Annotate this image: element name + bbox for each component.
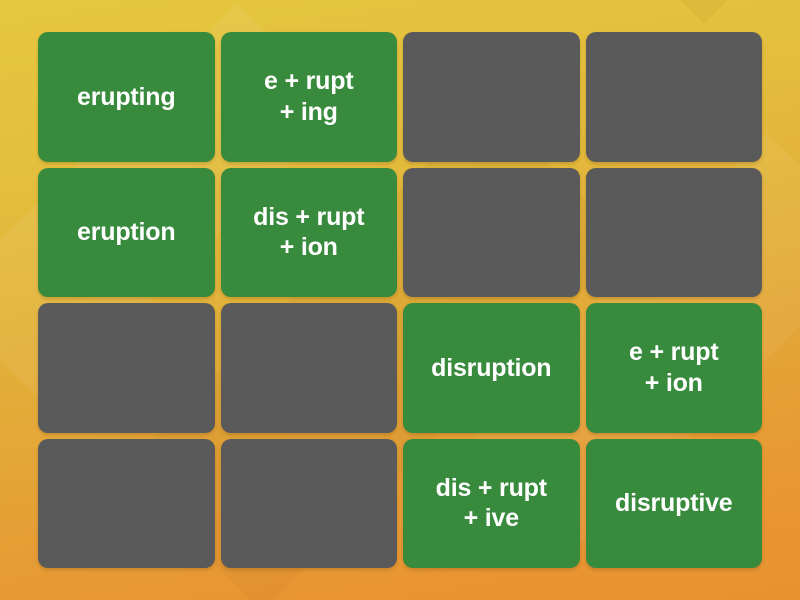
card-r3c1[interactable] xyxy=(38,303,215,433)
card-r1c4[interactable] xyxy=(586,32,763,162)
background-streak xyxy=(640,0,800,24)
card-r4c3[interactable]: dis + rupt + ive xyxy=(403,439,580,569)
card-label: dis + rupt + ive xyxy=(436,473,547,534)
card-r3c2[interactable] xyxy=(221,303,398,433)
card-label: erupting xyxy=(77,82,175,113)
card-r4c1[interactable] xyxy=(38,439,215,569)
card-r2c4[interactable] xyxy=(586,168,763,298)
card-r4c2[interactable] xyxy=(221,439,398,569)
card-label: disruptive xyxy=(615,488,732,519)
card-r3c3[interactable]: disruption xyxy=(403,303,580,433)
card-r2c2[interactable]: dis + rupt + ion xyxy=(221,168,398,298)
card-label: disruption xyxy=(431,353,551,384)
card-r1c2[interactable]: e + rupt + ing xyxy=(221,32,398,162)
card-label: eruption xyxy=(77,217,175,248)
card-r3c4[interactable]: e + rupt + ion xyxy=(586,303,763,433)
card-r1c3[interactable] xyxy=(403,32,580,162)
card-label: dis + rupt + ion xyxy=(253,202,364,263)
card-r4c4[interactable]: disruptive xyxy=(586,439,763,569)
card-r2c1[interactable]: eruption xyxy=(38,168,215,298)
card-label: e + rupt + ion xyxy=(629,337,718,398)
card-label: e + rupt + ing xyxy=(264,66,353,127)
card-r1c1[interactable]: erupting xyxy=(38,32,215,162)
card-r2c3[interactable] xyxy=(403,168,580,298)
card-grid: erupting e + rupt + ing eruption dis + r… xyxy=(38,32,762,568)
